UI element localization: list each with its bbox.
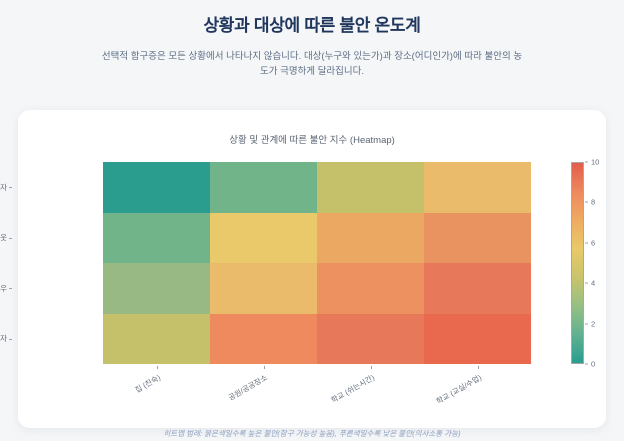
y-axis-label: 교사/권위자 xyxy=(0,314,12,365)
x-axis-label: 학교 (쉬는시간) xyxy=(329,372,376,406)
x-axis-label-slot: 학교 (쉬는시간) xyxy=(317,366,424,416)
colorbar-tick-value: 10 xyxy=(591,158,599,167)
heatmap-cell[interactable] xyxy=(210,162,317,213)
y-axis-label: 또래친구/급우 xyxy=(0,263,12,314)
colorbar-tick-mark xyxy=(585,162,588,163)
colorbar-tick-value: 6 xyxy=(591,238,595,247)
heatmap-cell[interactable] xyxy=(210,314,317,365)
heatmap-cell[interactable] xyxy=(317,213,424,264)
colorbar-tick-label: 0 xyxy=(585,360,595,369)
x-axis-label: 학교 (교실/수업) xyxy=(434,372,483,407)
heatmap-grid xyxy=(103,162,531,364)
colorbar-tick-mark xyxy=(585,323,588,324)
heatmap-plot xyxy=(103,162,531,364)
page-title: 상황과 대상에 따른 불안 온도계 xyxy=(70,14,554,38)
y-axis-label: 친척/가까운이웃 xyxy=(0,213,12,264)
colorbar-tick-label: 10 xyxy=(585,158,599,167)
heatmap-cell[interactable] xyxy=(424,213,531,264)
x-axis-label: 공원/공공장소 xyxy=(226,372,269,403)
x-axis-tick xyxy=(157,366,158,369)
heatmap-cell[interactable] xyxy=(103,213,210,264)
colorbar: 0246810 xyxy=(571,162,611,364)
page-header: 상황과 대상에 따른 불안 온도계 선택적 함구증은 모든 상황에서 나타나지 … xyxy=(0,0,624,80)
colorbar-tick-mark xyxy=(585,202,588,203)
colorbar-tick-label: 2 xyxy=(585,319,595,328)
y-axis-labels: 부모/주양육자친척/가까운이웃또래친구/급우교사/권위자 xyxy=(0,162,12,364)
colorbar-ticks: 0246810 xyxy=(585,162,611,364)
heatmap-cell[interactable] xyxy=(103,162,210,213)
heatmap-cell[interactable] xyxy=(424,314,531,365)
colorbar-tick-label: 8 xyxy=(585,198,595,207)
chart-title: 상황 및 관계에 따른 불안 지수 (Heatmap) xyxy=(18,132,606,146)
heatmap-cell[interactable] xyxy=(424,263,531,314)
heatmap-cell[interactable] xyxy=(103,314,210,365)
x-axis-label-slot: 학교 (교실/수업) xyxy=(424,366,531,416)
x-axis-label: 집 (친숙) xyxy=(132,372,162,395)
x-axis-label-slot: 공원/공공장소 xyxy=(210,366,317,416)
colorbar-tick-label: 6 xyxy=(585,238,595,247)
y-axis-label: 부모/주양육자 xyxy=(0,162,12,213)
colorbar-tick-mark xyxy=(585,364,588,365)
heatmap-cell[interactable] xyxy=(317,314,424,365)
heatmap-cell[interactable] xyxy=(317,162,424,213)
heatmap-cell[interactable] xyxy=(317,263,424,314)
colorbar-tick-value: 8 xyxy=(591,198,595,207)
page-subtitle: 선택적 함구증은 모든 상황에서 나타나지 않습니다. 대상(누구와 있는가)과… xyxy=(70,49,554,80)
heatmap-cell[interactable] xyxy=(424,162,531,213)
x-axis-label-slot: 집 (친숙) xyxy=(103,366,210,416)
colorbar-tick-value: 2 xyxy=(591,319,595,328)
chart-caption: 히트맵 범례: 붉은색일수록 높은 불안(함구 가능성 높음), 푸른색일수록 … xyxy=(0,428,624,439)
colorbar-tick-label: 4 xyxy=(585,279,595,288)
colorbar-tick-value: 0 xyxy=(591,360,595,369)
heatmap-cell[interactable] xyxy=(210,213,317,264)
x-axis-labels: 집 (친숙)공원/공공장소학교 (쉬는시간)학교 (교실/수업) xyxy=(103,366,531,416)
x-axis-tick xyxy=(371,366,372,369)
page-root: 상황과 대상에 따른 불안 온도계 선택적 함구증은 모든 상황에서 나타나지 … xyxy=(0,0,624,441)
x-axis-tick xyxy=(264,366,265,369)
colorbar-tick-mark xyxy=(585,242,588,243)
x-axis-tick xyxy=(478,366,479,369)
colorbar-gradient xyxy=(571,162,584,364)
colorbar-tick-value: 4 xyxy=(591,279,595,288)
heatmap-cell[interactable] xyxy=(210,263,317,314)
heatmap-cell[interactable] xyxy=(103,263,210,314)
chart-card: 상황 및 관계에 따른 불안 지수 (Heatmap) 부모/주양육자친척/가까… xyxy=(18,110,606,428)
colorbar-tick-mark xyxy=(585,283,588,284)
